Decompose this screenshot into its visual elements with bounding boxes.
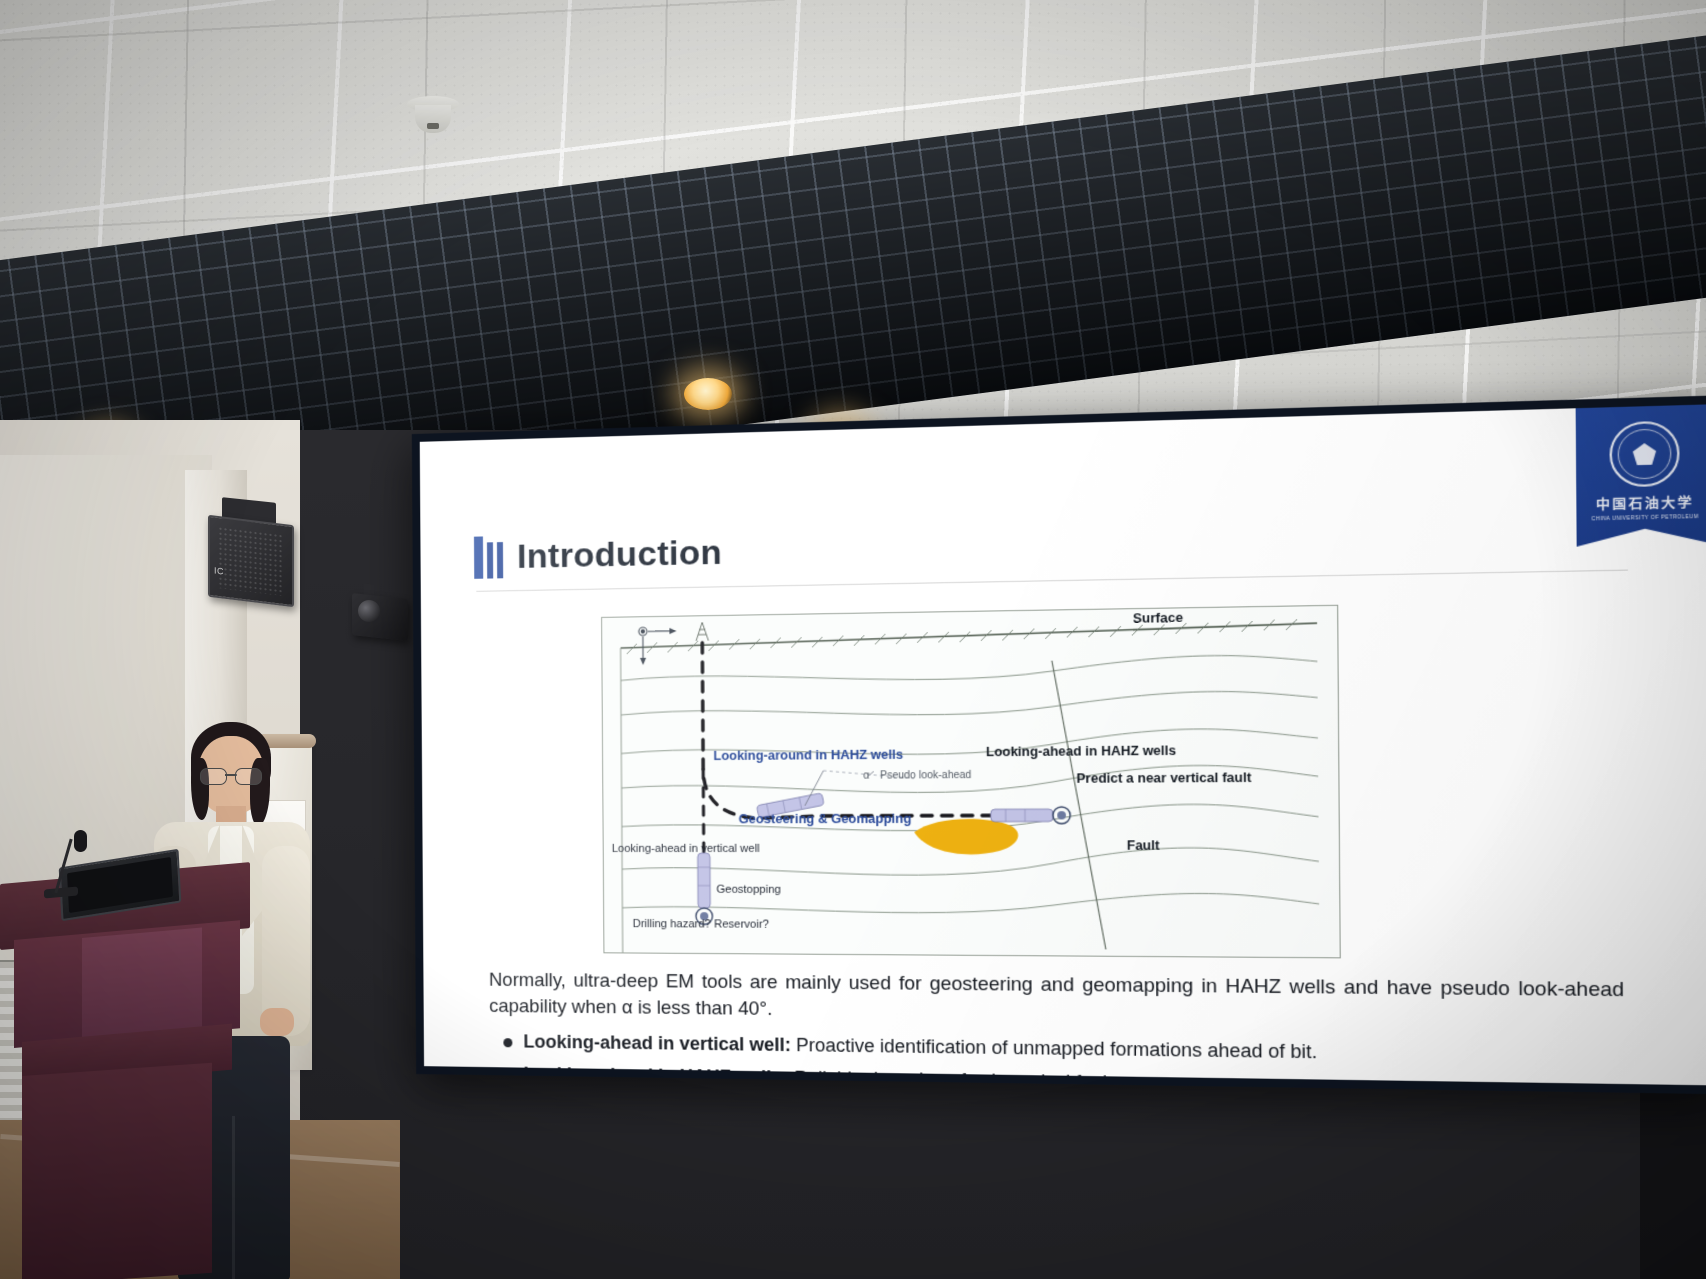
camera-lens-icon	[358, 600, 380, 622]
ceiling-spotlight	[684, 378, 732, 410]
bullet-rest: Proactive identification of unmapped for…	[791, 1035, 1317, 1063]
label-pseudo-look-ahead: Pseudo look-ahead	[880, 770, 971, 782]
list-item: Looking-ahead in vertical well: Proactiv…	[503, 1031, 1624, 1068]
label-predict-fault: Predict a near vertical fault	[1076, 770, 1251, 786]
university-name-cn: 中国石油大学	[1596, 493, 1694, 514]
label-looking-ahead-vert: Looking-ahead in vertical well	[612, 843, 760, 855]
university-name-en: CHINA UNIVERSITY OF PETROLEUM	[1592, 514, 1699, 522]
label-surface: Surface	[1133, 610, 1183, 626]
lectern-column	[22, 1063, 212, 1279]
wall-speaker	[208, 515, 294, 608]
slide: 中国石油大学 CHINA UNIVERSITY OF PETROLEUM Int…	[420, 404, 1706, 1085]
slide-title-group: Introduction	[474, 531, 722, 579]
label-fault: Fault	[1127, 838, 1160, 853]
university-logo: 中国石油大学 CHINA UNIVERSITY OF PETROLEUM	[1576, 404, 1706, 546]
label-looking-around: Looking-around in HAHZ wells	[713, 747, 903, 763]
university-seal-icon	[1609, 420, 1679, 487]
title-accent-bars	[474, 536, 503, 579]
label-drilling-hazard: Drilling hazard? Reservoir?	[633, 918, 769, 931]
geology-diagram: Surface Looking-around in HAHZ wells Loo…	[601, 605, 1341, 959]
conference-room-photo: IC 中国石油大学 CHINA UNIVERSITY OF PETROLEUM	[0, 0, 1706, 1279]
slide-paragraph: Normally, ultra-deep EM tools are mainly…	[489, 967, 1624, 1033]
label-geostopping: Geostopping	[716, 884, 781, 896]
laptop-screen	[67, 857, 173, 913]
speaker-brand-label: IC	[214, 565, 224, 576]
slide-bullet-list: Looking-ahead in vertical well: Proactiv…	[503, 1031, 1625, 1085]
label-geosteering: Geosteering & Geomapping	[739, 812, 912, 827]
microphone-head-icon	[74, 830, 87, 852]
page-title: Introduction	[517, 533, 722, 577]
label-looking-ahead-hahz: Looking-ahead in HAHZ wells	[986, 743, 1176, 759]
bullet-lead: Looking-ahead in vertical well:	[523, 1031, 791, 1055]
presenter-hand-right	[260, 1008, 294, 1036]
smoke-detector-icon	[405, 96, 461, 140]
glasses-icon	[200, 768, 262, 783]
lectern	[0, 884, 250, 1279]
bullet-dot-icon	[503, 1038, 512, 1047]
label-alpha: α	[863, 770, 869, 781]
projection-screen[interactable]: 中国石油大学 CHINA UNIVERSITY OF PETROLEUM Int…	[412, 395, 1706, 1094]
